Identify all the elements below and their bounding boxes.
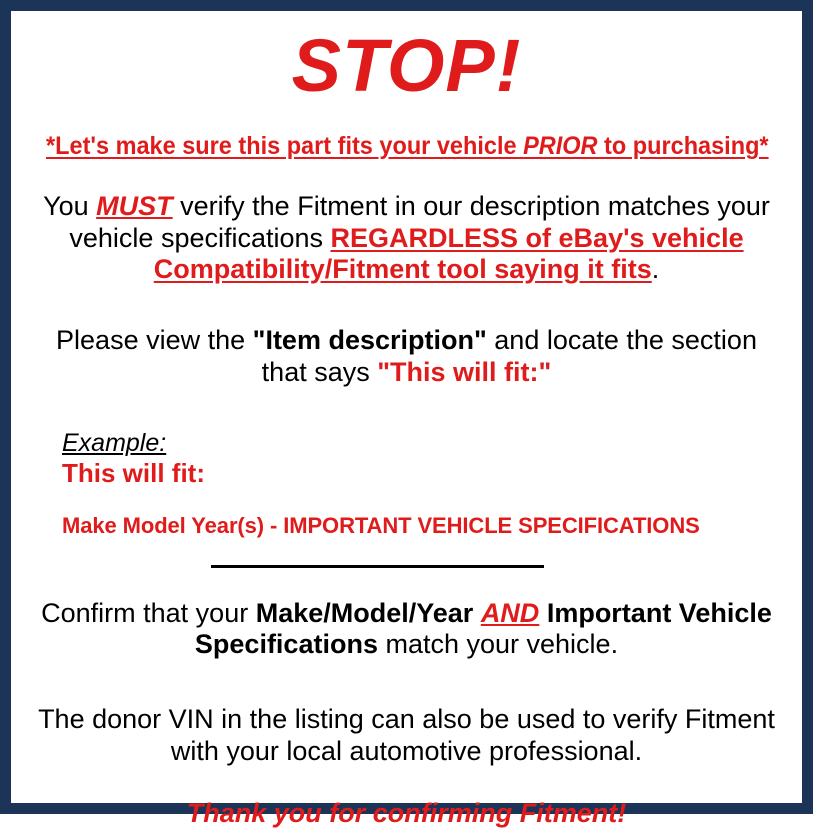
and-emphasis: AND xyxy=(481,598,540,628)
must-text-3: . xyxy=(652,254,660,284)
example-fit-heading: This will fit: xyxy=(62,458,796,489)
this-will-fit-emphasis: "This will fit:" xyxy=(377,357,551,387)
page-title: STOP! xyxy=(17,29,796,103)
subtitle-text-part2: to purchasing* xyxy=(598,132,769,160)
subtitle-text-part1: *Let's make sure this part fits your veh… xyxy=(46,132,523,160)
subtitle-emphasis-prior: PRIOR xyxy=(523,132,597,160)
notice-content: STOP! *Let's make sure this part fits yo… xyxy=(11,11,802,803)
horizontal-divider xyxy=(211,565,544,568)
item-description-emphasis: "Item description" xyxy=(253,325,487,355)
example-block: Example: This will fit: Make Model Year(… xyxy=(17,430,796,539)
fitment-notice-card: STOP! *Let's make sure this part fits yo… xyxy=(0,0,813,814)
must-text-1: You xyxy=(43,191,96,221)
view-text-1: Please view the xyxy=(56,325,253,355)
example-spec-line: Make Model Year(s) - IMPORTANT VEHICLE S… xyxy=(62,514,796,538)
confirm-text-1: Confirm that your xyxy=(41,598,256,628)
divider-wrap xyxy=(17,565,796,568)
paragraph-confirm-match: Confirm that your Make/Model/Year AND Im… xyxy=(17,598,796,661)
paragraph-view-description: Please view the "Item description" and l… xyxy=(17,325,796,388)
make-model-year-emphasis: Make/Model/Year xyxy=(256,598,481,628)
example-label-row: Example: xyxy=(62,430,796,457)
paragraph-must-verify: You MUST verify the Fitment in our descr… xyxy=(17,191,796,285)
example-label: Example: xyxy=(62,430,166,457)
paragraph-donor-vin: The donor VIN in the listing can also be… xyxy=(17,704,796,767)
must-emphasis: MUST xyxy=(96,191,173,221)
subtitle-banner: *Let's make sure this part fits your veh… xyxy=(40,133,772,159)
confirm-text-2: match your vehicle. xyxy=(378,629,618,659)
